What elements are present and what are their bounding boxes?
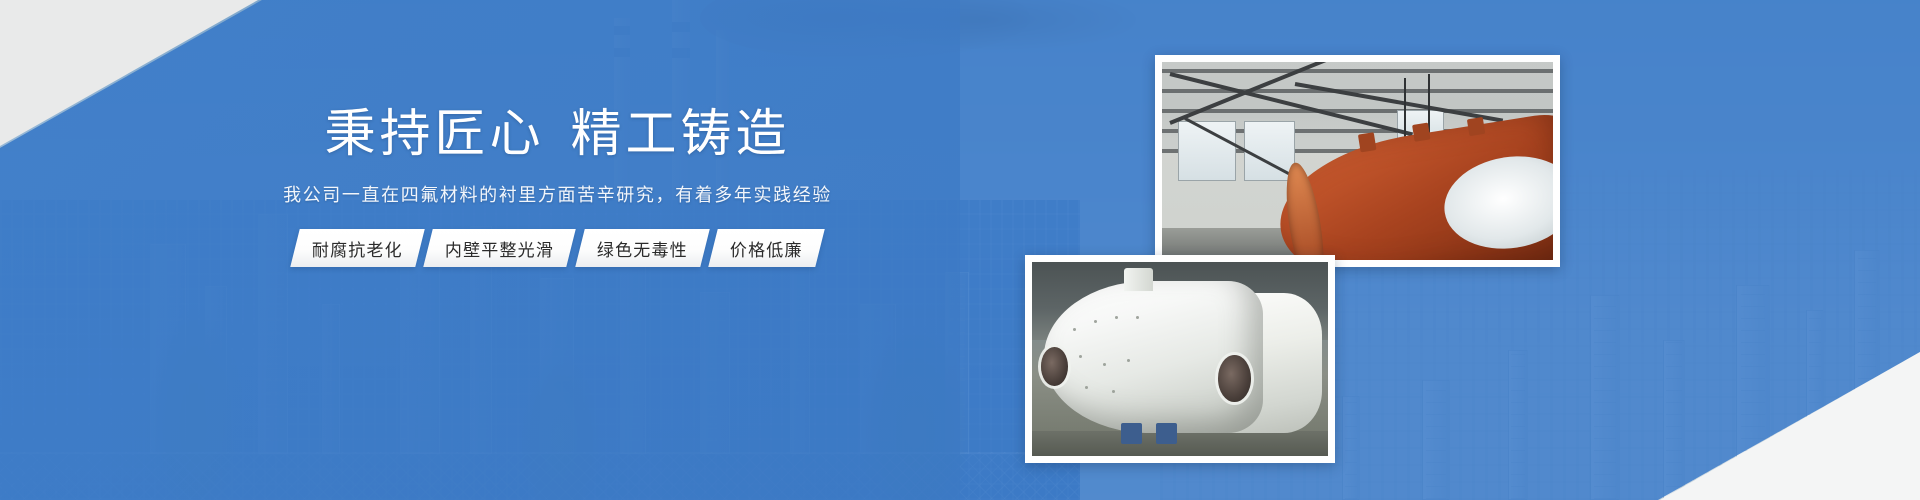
headline-part-1: 秉持匠心 [324, 105, 544, 162]
reactor-nozzle [1413, 123, 1431, 143]
white-vessel-photo-inner [1032, 262, 1328, 456]
workshop-scene [1162, 62, 1553, 260]
banner-text-block: 秉持匠心精工铸造 我公司一直在四氟材料的衬里方面苦辛研究，有着多年实践经验 耐腐… [0, 104, 1115, 267]
reactor-lining-photo-inner [1162, 62, 1553, 260]
feature-tag-4-label: 价格低廉 [730, 236, 803, 261]
white-vessel-photo[interactable] [1025, 255, 1335, 463]
vessel-support-block [1156, 423, 1177, 444]
reactor-lining-photo[interactable] [1155, 55, 1560, 267]
crane-hook-cable [1404, 78, 1406, 137]
vessel-bolt [1103, 363, 1106, 366]
yard-ground [1032, 431, 1328, 456]
hero-banner: 秉持匠心精工铸造 我公司一直在四氟材料的衬里方面苦辛研究，有着多年实践经验 耐腐… [0, 0, 1920, 500]
banner-subtitle: 我公司一直在四氟材料的衬里方面苦辛研究，有着多年实践经验 [0, 181, 1115, 207]
vessel-bolt [1127, 359, 1130, 362]
feature-tag-3[interactable]: 绿色无毒性 [575, 229, 709, 267]
feature-tag-4[interactable]: 价格低廉 [708, 229, 824, 267]
feature-tag-3-label: 绿色无毒性 [597, 236, 688, 261]
feature-tag-1-label: 耐腐抗老化 [312, 236, 403, 261]
headline-part-2: 精工铸造 [571, 105, 791, 162]
vessel-bolt [1112, 390, 1115, 393]
vessel-side-port [1218, 355, 1251, 402]
reactor-flange [1280, 160, 1330, 260]
vessel-side-port [1041, 347, 1068, 386]
vessel-support-block [1121, 423, 1142, 444]
feature-tag-2[interactable]: 内壁平整光滑 [424, 229, 577, 267]
feature-tag-1[interactable]: 耐腐抗老化 [291, 229, 425, 267]
feature-tag-row: 耐腐抗老化 内壁平整光滑 绿色无毒性 价格低廉 [0, 229, 1115, 267]
reactor-nozzle [1359, 133, 1377, 153]
reactor-nozzle [1467, 117, 1485, 137]
vessel-neck-nozzle [1124, 268, 1154, 291]
feature-tag-2-label: 内壁平整光滑 [445, 236, 554, 261]
page-title: 秉持匠心精工铸造 [0, 104, 1115, 164]
outdoor-yard-scene [1032, 262, 1328, 456]
